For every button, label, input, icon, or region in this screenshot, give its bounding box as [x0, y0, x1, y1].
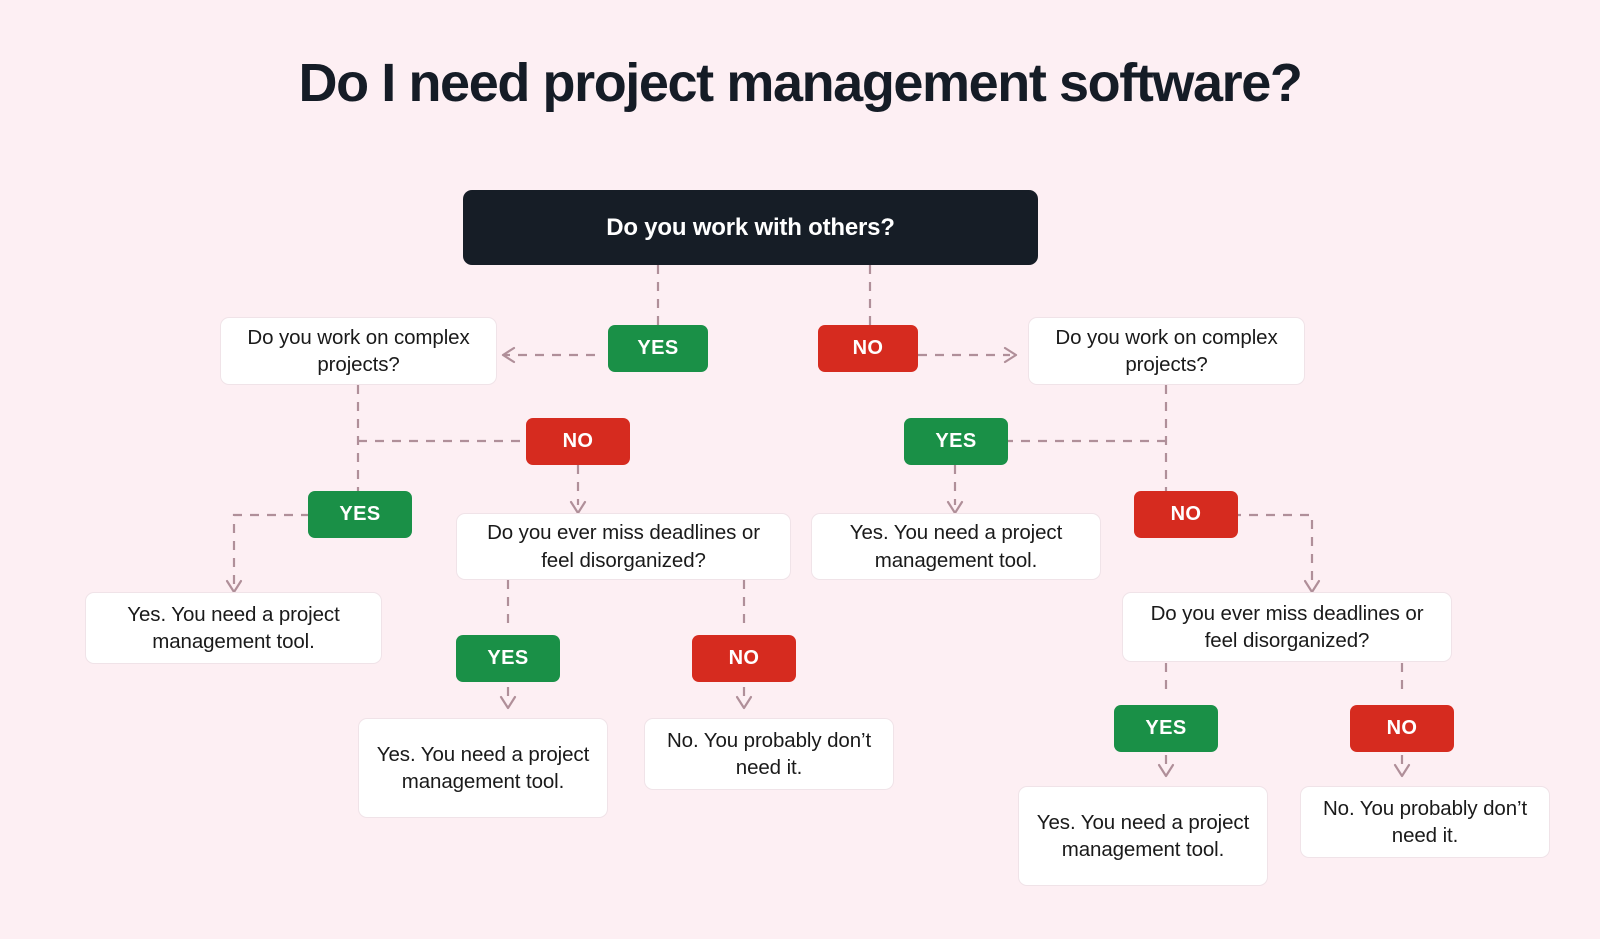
node-question-deadlines-mid-right[interactable]: Do you ever miss deadlines or feel disor…: [1122, 592, 1452, 662]
badge-no-left-branch[interactable]: NO: [526, 418, 630, 465]
node-result-mid-no[interactable]: No. You probably don’t need it.: [644, 718, 894, 790]
arrowhead-qleft: [503, 348, 514, 362]
node-result-mid-yes[interactable]: Yes. You need a project management tool.: [358, 718, 608, 818]
arrowhead-res-mid-yes: [501, 697, 515, 708]
edge-yesleft-to-result: [234, 515, 310, 584]
arrowhead-qmid: [571, 502, 585, 513]
page-title: Do I need project management software?: [0, 54, 1600, 113]
arrowhead-res-right: [948, 502, 962, 513]
badge-no-root[interactable]: NO: [818, 325, 918, 372]
node-result-left[interactable]: Yes. You need a project management tool.: [85, 592, 382, 664]
badge-no-mid-right[interactable]: NO: [1350, 705, 1454, 752]
badge-yes-root[interactable]: YES: [608, 325, 708, 372]
badge-no-mid[interactable]: NO: [692, 635, 796, 682]
badge-yes-right-branch[interactable]: YES: [904, 418, 1008, 465]
node-result-mid-right-yes[interactable]: Yes. You need a project management tool.: [1018, 786, 1268, 886]
arrowhead-res-left: [227, 581, 241, 592]
arrowhead-res-mr-yes: [1159, 765, 1173, 776]
node-question-deadlines-mid[interactable]: Do you ever miss deadlines or feel disor…: [456, 513, 791, 580]
badge-yes-left-branch[interactable]: YES: [308, 491, 412, 538]
flowchart-canvas: Do I need project management software?: [0, 0, 1600, 939]
badge-yes-mid-right[interactable]: YES: [1114, 705, 1218, 752]
arrowhead-res-mid-no: [737, 697, 751, 708]
badge-no-right-branch[interactable]: NO: [1134, 491, 1238, 538]
badge-yes-mid[interactable]: YES: [456, 635, 560, 682]
node-question-complex-right[interactable]: Do you work on complex projects?: [1028, 317, 1305, 385]
node-question-complex-left[interactable]: Do you work on complex projects?: [220, 317, 497, 385]
arrowhead-qmid-right: [1305, 581, 1319, 592]
node-result-right[interactable]: Yes. You need a project management tool.: [811, 513, 1101, 580]
arrowhead-qright: [1005, 348, 1016, 362]
node-root-question[interactable]: Do you work with others?: [463, 190, 1038, 265]
arrowhead-res-mr-no: [1395, 765, 1409, 776]
node-result-mid-right-no[interactable]: No. You probably don’t need it.: [1300, 786, 1550, 858]
